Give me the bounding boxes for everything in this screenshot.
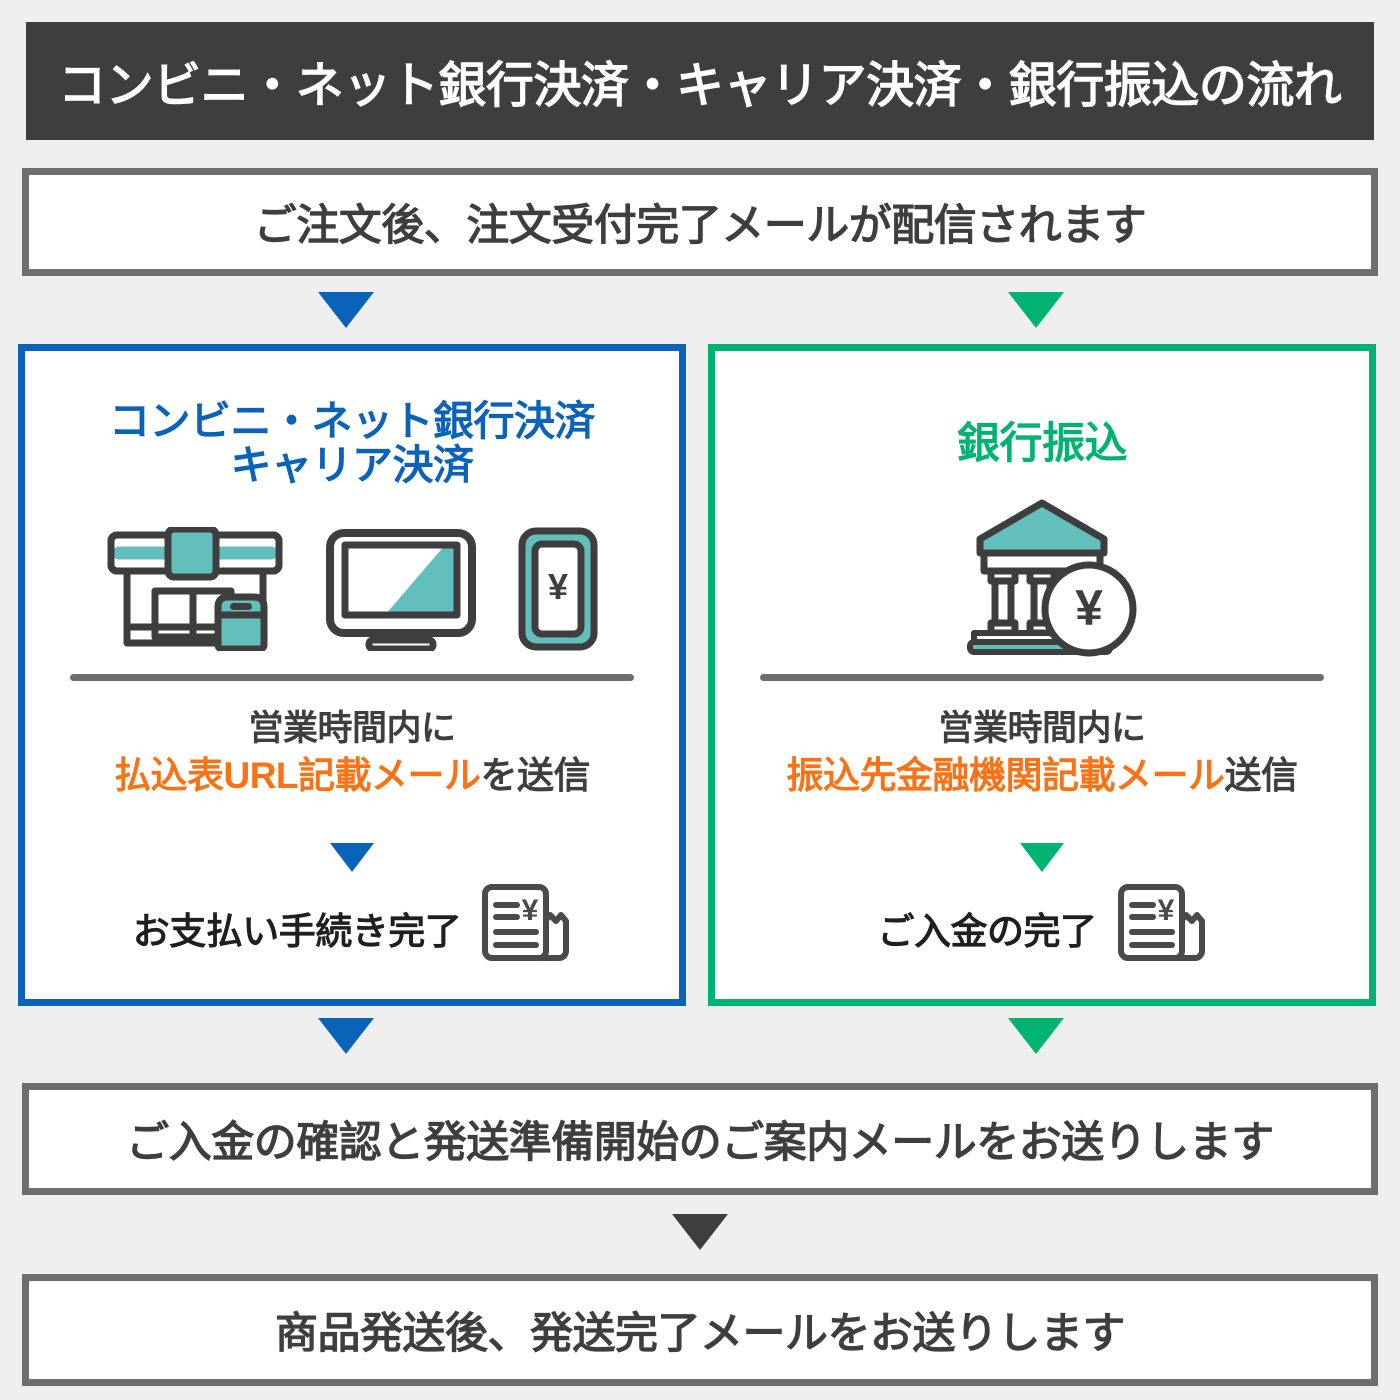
step-box-payment-confirmed: ご入金の確認と発送準備開始のご案内メールをお送りします bbox=[22, 1083, 1378, 1195]
step-box-shipping-completed: 商品発送後、発送完了メールをお送りします bbox=[22, 1274, 1378, 1386]
bank-note-suffix: 送信 bbox=[1225, 755, 1298, 796]
conveni-note-line1: 営業時間内に bbox=[25, 707, 679, 752]
bank-building-yen-icon: ¥ bbox=[942, 491, 1142, 662]
arrow-down-from-conveni-panel bbox=[318, 1018, 374, 1054]
arrow-down-from-bank-panel bbox=[1008, 1018, 1064, 1054]
conveni-result-row: お支払い手続き完了 ¥ bbox=[25, 881, 679, 974]
receipt-yen-icon: ¥ bbox=[1111, 881, 1207, 974]
step-order-received-label: ご注文後、注文受付完了メールが配信されます bbox=[254, 191, 1147, 253]
step-box-order-received: ご注文後、注文受付完了メールが配信されます bbox=[22, 168, 1378, 276]
bank-note-line1: 営業時間内に bbox=[715, 707, 1369, 752]
arrow-down-conveni-inner bbox=[330, 843, 374, 872]
bank-note-line2: 振込先金融機関記載メール送信 bbox=[715, 752, 1369, 799]
panel-bank-transfer: 銀行振込 bbox=[708, 344, 1376, 1006]
conveni-result-label: お支払い手続き完了 bbox=[133, 901, 462, 955]
arrow-down-to-bank-panel bbox=[1008, 292, 1064, 328]
svg-text:¥: ¥ bbox=[548, 566, 568, 607]
bank-note: 営業時間内に 振込先金融機関記載メール送信 bbox=[715, 707, 1369, 799]
step-payment-confirmed-label: ご入金の確認と発送準備開始のご案内メールをお送りします bbox=[126, 1108, 1274, 1170]
smartphone-yen-icon: ¥ bbox=[517, 527, 599, 656]
convenience-store-icon bbox=[105, 527, 285, 656]
svg-text:¥: ¥ bbox=[1157, 894, 1174, 927]
svg-text:¥: ¥ bbox=[522, 894, 539, 927]
panel-convenience-title: コンビニ・ネット銀行決済 キャリア決済 bbox=[25, 399, 679, 488]
bank-result-row: ご入金の完了 ¥ bbox=[715, 881, 1369, 974]
conveni-divider bbox=[70, 674, 634, 681]
receipt-yen-icon: ¥ bbox=[475, 881, 571, 974]
page-title: コンビニ・ネット銀行決済・キャリア決済・銀行振込の流れ bbox=[58, 46, 1341, 117]
conveni-note-highlight: 払込表URL記載メール bbox=[114, 755, 481, 796]
step-shipping-completed-label: 商品発送後、発送完了メールをお送りします bbox=[275, 1299, 1125, 1361]
bank-result-label: ご入金の完了 bbox=[878, 901, 1097, 955]
bank-icon-row: ¥ bbox=[715, 491, 1369, 662]
payment-flow-diagram: コンビニ・ネット銀行決済・キャリア決済・銀行振込の流れ ご注文後、注文受付完了メ… bbox=[0, 0, 1400, 1400]
desktop-monitor-icon bbox=[325, 527, 477, 656]
bank-divider bbox=[760, 674, 1324, 681]
arrow-down-to-conveni-panel bbox=[318, 292, 374, 328]
convenience-icon-row: ¥ bbox=[25, 527, 679, 656]
arrow-down-bank-inner bbox=[1020, 843, 1064, 872]
conveni-note-suffix: を送信 bbox=[481, 755, 591, 796]
panel-bank-title: 銀行振込 bbox=[715, 421, 1369, 467]
conveni-note: 営業時間内に 払込表URL記載メールを送信 bbox=[25, 707, 679, 799]
svg-text:¥: ¥ bbox=[1075, 580, 1103, 636]
conveni-note-line2: 払込表URL記載メールを送信 bbox=[25, 752, 679, 799]
arrow-down-to-shipped bbox=[672, 1214, 728, 1250]
page-header: コンビニ・ネット銀行決済・キャリア決済・銀行振込の流れ bbox=[26, 22, 1374, 140]
panel-convenience-payment: コンビニ・ネット銀行決済 キャリア決済 bbox=[18, 344, 686, 1006]
bank-note-highlight: 振込先金融機関記載メール bbox=[787, 755, 1225, 796]
